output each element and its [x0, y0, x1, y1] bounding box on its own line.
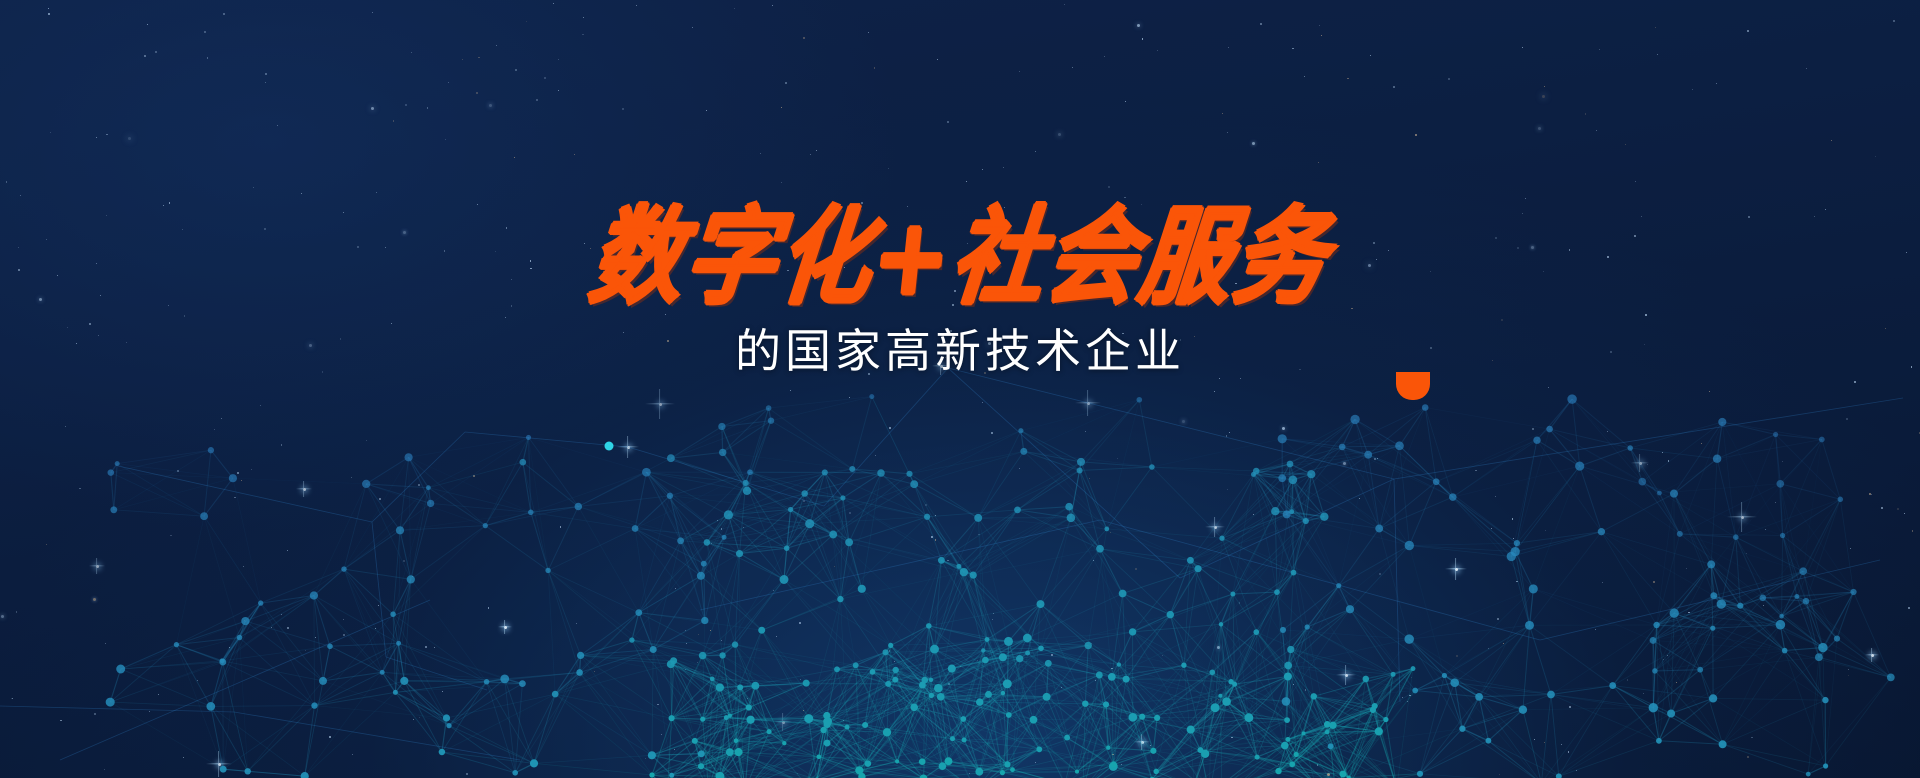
- mesh-node: [803, 680, 810, 687]
- mesh-edge: [723, 548, 787, 655]
- mesh-node: [724, 510, 733, 519]
- mesh-edge: [529, 437, 647, 472]
- mesh-edge: [222, 661, 323, 681]
- mesh-node: [1082, 700, 1088, 706]
- mesh-node: [1128, 713, 1137, 722]
- mesh-edge: [111, 473, 204, 517]
- mesh-edge: [1713, 698, 1825, 700]
- mesh-node: [1289, 761, 1295, 767]
- mesh-edge: [973, 518, 1071, 575]
- mesh-edge: [223, 769, 248, 771]
- mesh-edge: [211, 706, 305, 776]
- mesh-edge: [555, 640, 632, 694]
- mesh-node: [1529, 584, 1538, 593]
- mesh-edge: [927, 510, 1017, 517]
- mesh-edge: [411, 526, 486, 580]
- mesh-edge: [1680, 534, 1763, 598]
- mesh-edge: [771, 397, 872, 421]
- mesh-edge: [1152, 439, 1282, 467]
- mesh-edge: [314, 484, 366, 596]
- mesh-edge: [1113, 767, 1152, 778]
- mesh-edge: [1533, 589, 1653, 641]
- mesh-edge: [400, 512, 531, 530]
- mesh-edge: [581, 655, 652, 755]
- mesh-node: [1818, 643, 1827, 652]
- mesh-node: [822, 469, 828, 475]
- mesh-edge: [771, 421, 852, 469]
- mesh-edge: [204, 450, 211, 516]
- mesh-node: [1383, 717, 1388, 722]
- mesh-node: [1077, 458, 1085, 466]
- mesh-node: [1280, 627, 1286, 633]
- mesh-node: [1181, 663, 1186, 668]
- mesh-node: [1025, 651, 1030, 656]
- mesh-node: [439, 749, 446, 756]
- mesh-node: [1282, 697, 1291, 706]
- mesh-edge: [1409, 546, 1444, 676]
- mesh-edge: [1736, 440, 1822, 538]
- mesh-edge: [409, 437, 529, 457]
- mesh-edge: [1286, 586, 1339, 702]
- mesh-node: [1287, 646, 1294, 653]
- mesh-node: [858, 585, 866, 593]
- mesh-node: [1043, 693, 1051, 701]
- mesh-node: [726, 748, 734, 756]
- mesh-node: [1154, 715, 1160, 721]
- mesh-node: [882, 649, 888, 655]
- mesh-edge: [1854, 592, 1891, 677]
- mesh-node: [719, 652, 725, 658]
- mesh-node: [650, 646, 657, 653]
- mesh-node: [108, 469, 115, 476]
- mesh-node: [1305, 624, 1310, 629]
- mesh-edge: [1420, 697, 1479, 774]
- mesh-edge: [1355, 419, 1379, 528]
- mesh-edge: [1559, 714, 1671, 777]
- mesh-edge: [233, 478, 366, 484]
- mesh-node: [924, 514, 930, 520]
- mesh-node: [1311, 693, 1317, 699]
- mesh-node: [699, 652, 707, 660]
- mesh-edge: [382, 672, 395, 692]
- mesh-node: [1759, 594, 1766, 601]
- mesh-edge: [1797, 592, 1854, 597]
- mesh-strut: [1394, 398, 1903, 479]
- mesh-edge: [1572, 399, 1580, 466]
- mesh-edge: [211, 662, 223, 706]
- mesh-edge: [1080, 467, 1152, 471]
- mesh-node: [635, 609, 642, 616]
- mesh-node: [1391, 672, 1396, 677]
- mesh-node: [1230, 592, 1235, 597]
- mesh-node: [701, 561, 707, 567]
- mesh-node: [1799, 567, 1807, 575]
- mesh-node: [1004, 637, 1013, 646]
- mesh-edge: [447, 694, 556, 718]
- mesh-node: [1547, 691, 1555, 699]
- mesh-node: [892, 677, 898, 683]
- page-title: 数字化+社会服务: [586, 206, 1334, 311]
- mesh-edge: [1530, 625, 1552, 694]
- mesh-edge: [1674, 494, 1740, 606]
- mesh-edge: [431, 503, 531, 512]
- mesh-node: [1096, 545, 1104, 553]
- mesh-edge: [914, 484, 941, 560]
- mesh-node: [519, 459, 526, 466]
- mesh-edge: [769, 397, 872, 409]
- mesh-node: [512, 770, 518, 776]
- mesh-edge: [314, 569, 344, 595]
- mesh-node: [1232, 682, 1237, 687]
- mesh-node: [396, 641, 401, 646]
- mesh-edge: [1674, 459, 1717, 494]
- mesh-node: [677, 537, 684, 544]
- mesh-node: [1320, 512, 1328, 520]
- mesh-node: [1245, 713, 1254, 722]
- mesh-edge: [431, 437, 529, 503]
- mesh-edge: [1517, 466, 1580, 543]
- mesh-node: [1075, 770, 1079, 774]
- mesh-edge: [548, 529, 635, 571]
- mesh-node: [1834, 635, 1840, 641]
- mesh-edge: [1287, 455, 1369, 515]
- mesh-strut: [948, 368, 1394, 479]
- mesh-node: [1020, 448, 1027, 455]
- mesh-node: [1776, 620, 1786, 630]
- mesh-node: [840, 495, 845, 500]
- mesh-node: [950, 736, 955, 741]
- mesh-node: [426, 485, 431, 490]
- mesh-node: [919, 758, 926, 765]
- mesh-edge: [1425, 408, 1436, 482]
- mesh-edge: [114, 510, 204, 516]
- mesh-edge: [261, 596, 314, 604]
- mesh-node: [885, 681, 891, 687]
- mesh-edge: [1515, 552, 1529, 626]
- mesh-node: [1575, 462, 1584, 471]
- mesh-edge: [1018, 462, 1082, 510]
- mesh-node: [483, 523, 488, 528]
- mesh-node: [443, 714, 450, 721]
- mesh-node: [400, 677, 408, 685]
- mesh-edge: [114, 464, 117, 510]
- mesh-node: [736, 550, 743, 557]
- mesh-node: [200, 512, 208, 520]
- mesh-edge: [635, 529, 653, 650]
- mesh-edge: [204, 478, 233, 516]
- mesh-node: [115, 461, 120, 466]
- mesh-edge: [1198, 511, 1275, 569]
- mesh-edge: [578, 496, 670, 507]
- mesh-edge: [872, 397, 910, 474]
- mesh-edge: [1533, 466, 1579, 589]
- mesh-edge: [1803, 440, 1822, 572]
- mesh-node: [1533, 436, 1540, 443]
- mesh-node: [1136, 397, 1142, 403]
- mesh-node: [910, 480, 918, 488]
- mesh-node: [1195, 565, 1202, 572]
- mesh-node: [1197, 747, 1203, 753]
- mesh-edge: [1156, 771, 1209, 778]
- mesh-edge: [1081, 462, 1107, 529]
- mesh-node: [241, 617, 249, 625]
- mesh-node: [768, 417, 774, 423]
- mesh-edge: [833, 535, 929, 626]
- mesh-edge: [1123, 594, 1171, 615]
- page-subtitle: 的国家高新技术企业: [0, 328, 1920, 374]
- mesh-node: [948, 665, 956, 673]
- mesh-node: [985, 637, 990, 642]
- mesh-edge: [1420, 774, 1541, 778]
- mesh-node: [1395, 441, 1404, 450]
- mesh-node: [1119, 590, 1127, 598]
- mesh-edge: [1212, 538, 1222, 672]
- mesh-node: [1106, 746, 1110, 750]
- mesh-node: [981, 648, 985, 652]
- mesh-edge: [529, 437, 579, 506]
- mesh-edge: [1782, 536, 1783, 617]
- mesh-edge: [1350, 546, 1409, 610]
- mesh-node: [1285, 737, 1290, 742]
- mesh-edge: [1713, 698, 1826, 766]
- mesh-node: [698, 763, 704, 769]
- mesh-edge: [1630, 422, 1722, 448]
- mesh-edge: [1444, 625, 1529, 675]
- mesh-node: [956, 564, 961, 569]
- mesh-edge: [1488, 710, 1523, 741]
- mesh-edge: [1837, 592, 1854, 639]
- mesh-node: [845, 725, 850, 730]
- mesh-node: [737, 684, 743, 690]
- mesh-node: [667, 493, 673, 499]
- mesh-node: [829, 531, 837, 539]
- mesh-node: [1187, 726, 1195, 734]
- mesh-edge: [531, 512, 548, 570]
- mesh-node: [1450, 678, 1459, 687]
- mesh-edge: [927, 517, 973, 575]
- mesh-node: [1103, 701, 1109, 707]
- mesh-node: [751, 682, 759, 690]
- mesh-node: [1375, 525, 1383, 533]
- mesh-node: [1370, 707, 1376, 713]
- mesh-node: [1129, 628, 1136, 635]
- mesh-edge: [653, 541, 680, 650]
- mesh-node: [1111, 761, 1117, 767]
- mesh-edge: [833, 535, 941, 561]
- mesh-node: [734, 748, 742, 756]
- mesh-node: [1004, 761, 1010, 767]
- mesh-edge: [1541, 686, 1612, 778]
- mesh-edge: [523, 462, 548, 570]
- mesh-edge: [248, 706, 315, 772]
- mesh-node: [1404, 634, 1414, 644]
- mesh-node: [396, 526, 404, 534]
- mesh-node: [1018, 428, 1023, 433]
- mesh-edge: [393, 526, 485, 615]
- mesh-edge: [784, 580, 856, 666]
- mesh-node: [1219, 536, 1224, 541]
- mesh-node: [862, 722, 868, 728]
- mesh-node: [1149, 464, 1155, 470]
- mesh-node: [1364, 451, 1372, 459]
- mesh-edge: [428, 437, 528, 487]
- mesh-node: [888, 643, 893, 648]
- mesh-node: [922, 677, 929, 684]
- mesh-node: [960, 716, 966, 722]
- mesh-edge: [1436, 429, 1549, 482]
- mesh-node: [938, 557, 945, 564]
- mesh-node: [1677, 531, 1683, 537]
- mesh-edge: [852, 397, 872, 469]
- mesh-node: [500, 675, 509, 684]
- mesh-edge: [428, 462, 522, 488]
- mesh-node: [669, 773, 674, 778]
- mesh-node: [746, 704, 752, 710]
- mesh-node: [974, 514, 982, 522]
- mesh-node: [1650, 637, 1657, 644]
- mesh-node: [1514, 540, 1520, 546]
- mesh-node: [1433, 478, 1440, 485]
- mesh-node: [1023, 634, 1032, 643]
- mesh-node: [1084, 642, 1091, 649]
- mesh-edge: [639, 496, 670, 613]
- mesh-edge: [1659, 435, 1775, 494]
- mesh-edge: [395, 692, 449, 725]
- mesh-node: [319, 677, 327, 685]
- mesh-edge: [1222, 471, 1256, 538]
- mesh-node: [1806, 772, 1811, 777]
- mesh-node: [939, 762, 947, 770]
- mesh-node: [1284, 662, 1292, 670]
- mesh-node: [390, 611, 396, 617]
- mesh-node: [734, 738, 739, 743]
- mesh-edge: [442, 752, 515, 773]
- mesh-node: [1284, 672, 1292, 680]
- mesh-node: [1449, 493, 1457, 501]
- mesh-node: [1278, 474, 1286, 482]
- mesh-node: [700, 717, 705, 722]
- mesh-node: [1733, 534, 1739, 540]
- mesh-node: [1776, 480, 1784, 488]
- mesh-edge: [652, 741, 695, 755]
- mesh-edge: [240, 638, 315, 706]
- mesh-node: [327, 644, 333, 650]
- mesh-node: [929, 693, 934, 698]
- mesh-node: [1291, 570, 1297, 576]
- mesh-edge: [1339, 586, 1416, 691]
- mesh-edge: [315, 643, 399, 705]
- mesh-node: [642, 468, 651, 477]
- mesh-node: [1218, 694, 1222, 698]
- mesh-edge: [1233, 592, 1277, 594]
- mesh-edge: [211, 706, 223, 769]
- mesh-edge: [344, 569, 399, 643]
- mesh-node: [853, 662, 859, 668]
- mesh-node: [970, 571, 977, 578]
- mesh-edge: [404, 681, 449, 726]
- mesh-node: [1328, 743, 1334, 749]
- mesh-edge: [735, 645, 837, 670]
- mesh-node: [219, 659, 226, 666]
- mesh-node: [1010, 767, 1015, 772]
- mesh-edge: [1425, 408, 1549, 430]
- mesh-edge: [1723, 744, 1809, 774]
- mesh-edge: [1776, 435, 1781, 484]
- mesh-node: [1077, 467, 1083, 473]
- mesh-node: [1779, 614, 1784, 619]
- mesh-node: [1253, 629, 1259, 635]
- mesh-edge: [1630, 448, 1659, 493]
- mesh-node: [229, 474, 237, 482]
- mesh-edge: [555, 694, 652, 755]
- mesh-node: [910, 704, 918, 712]
- mesh-edge: [1436, 440, 1537, 482]
- mesh-node: [1822, 697, 1828, 703]
- mesh-node: [629, 637, 634, 642]
- mesh-edge: [1613, 686, 1654, 708]
- mesh-node: [575, 503, 583, 511]
- mesh-node: [930, 645, 939, 654]
- mesh-edge: [1355, 419, 1399, 445]
- mesh-node: [528, 510, 534, 516]
- mesh-edge: [400, 530, 411, 579]
- mesh-edge: [1453, 466, 1580, 497]
- mesh-node: [1038, 645, 1044, 651]
- mesh-node: [1667, 709, 1675, 717]
- mesh-node: [782, 741, 786, 745]
- mesh-edge: [1409, 639, 1523, 710]
- mesh-node: [1067, 514, 1076, 523]
- mesh-node: [877, 469, 885, 477]
- mesh-node: [1307, 470, 1315, 478]
- mesh-node: [670, 657, 677, 664]
- hero-text-block: 数字化+社会服务 的国家高新技术企业: [0, 212, 1920, 374]
- mesh-node: [820, 727, 826, 733]
- mesh-node: [1850, 589, 1856, 595]
- mesh-node: [834, 666, 840, 672]
- mesh-node: [1657, 491, 1662, 496]
- mesh-node: [870, 669, 876, 675]
- mesh-edge: [1342, 447, 1379, 529]
- mesh-node: [893, 667, 899, 673]
- mesh-edge: [910, 451, 1024, 473]
- mesh-node: [576, 669, 583, 676]
- mesh-edge: [978, 518, 983, 651]
- mesh-node: [1422, 404, 1429, 411]
- mesh-strut: [0, 706, 234, 712]
- mesh-node: [1707, 560, 1715, 568]
- mesh-node: [301, 772, 309, 778]
- mesh-edge: [973, 575, 1003, 693]
- mesh-node: [704, 539, 711, 546]
- mesh-edge: [114, 478, 233, 510]
- mesh-edge: [1479, 697, 1541, 778]
- mesh-node: [1411, 666, 1416, 671]
- mesh-node: [1329, 722, 1336, 729]
- mesh-edge: [978, 471, 1079, 518]
- mesh-edge: [978, 431, 1021, 518]
- mesh-node: [1301, 731, 1305, 735]
- mesh-edge: [449, 679, 505, 726]
- mesh-edge: [1041, 518, 1071, 649]
- mesh-edge: [1530, 625, 1613, 685]
- mesh-node: [937, 693, 945, 701]
- mesh-node: [1670, 609, 1679, 618]
- mesh-node: [767, 729, 772, 734]
- mesh-node: [1819, 437, 1825, 443]
- mesh-edge: [485, 437, 528, 525]
- mesh-edge: [1024, 451, 1081, 462]
